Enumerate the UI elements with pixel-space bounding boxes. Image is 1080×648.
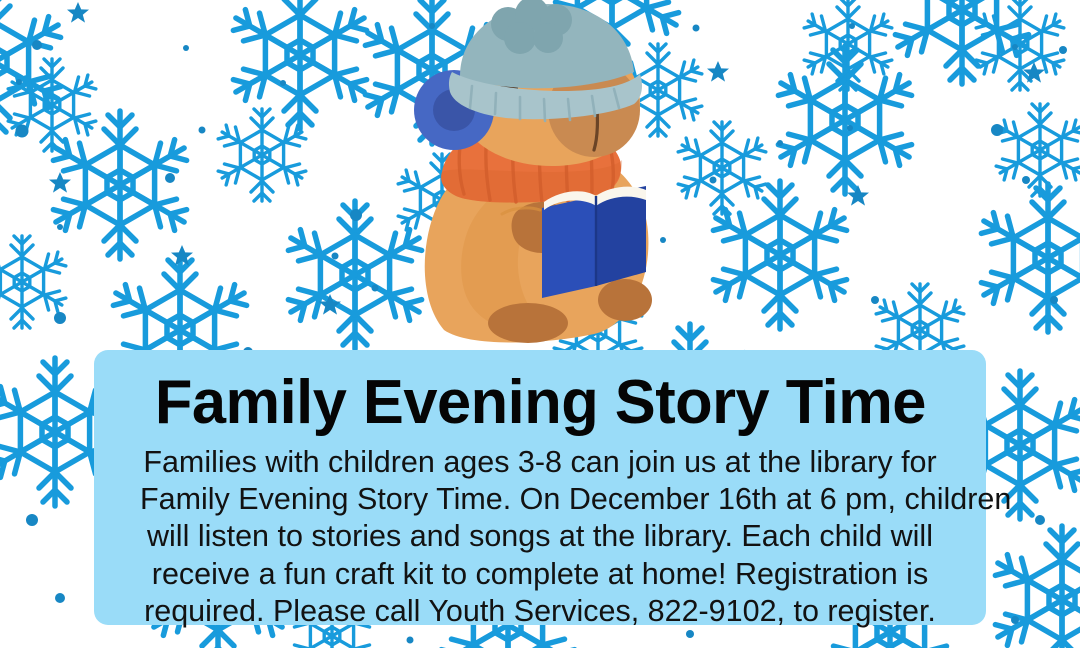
description-line: Family Evening Story Time. On December 1… — [140, 481, 940, 518]
capybara-beanie-hat — [449, 0, 642, 121]
event-info-banner: Family Evening Story Time Families with … — [94, 350, 986, 625]
capybara-illustration — [408, 0, 688, 350]
page-title: Family Evening Story Time — [154, 372, 925, 434]
description-line: Families with children ages 3-8 can join… — [140, 444, 940, 481]
event-description: Families with children ages 3-8 can join… — [140, 444, 940, 630]
description-line: will listen to stories and songs at the … — [140, 518, 940, 555]
poster-canvas: Family Evening Story Time Families with … — [0, 0, 1080, 648]
description-line: receive a fun craft kit to complete at h… — [140, 556, 940, 593]
description-line: required. Please call Youth Services, 82… — [140, 593, 940, 630]
